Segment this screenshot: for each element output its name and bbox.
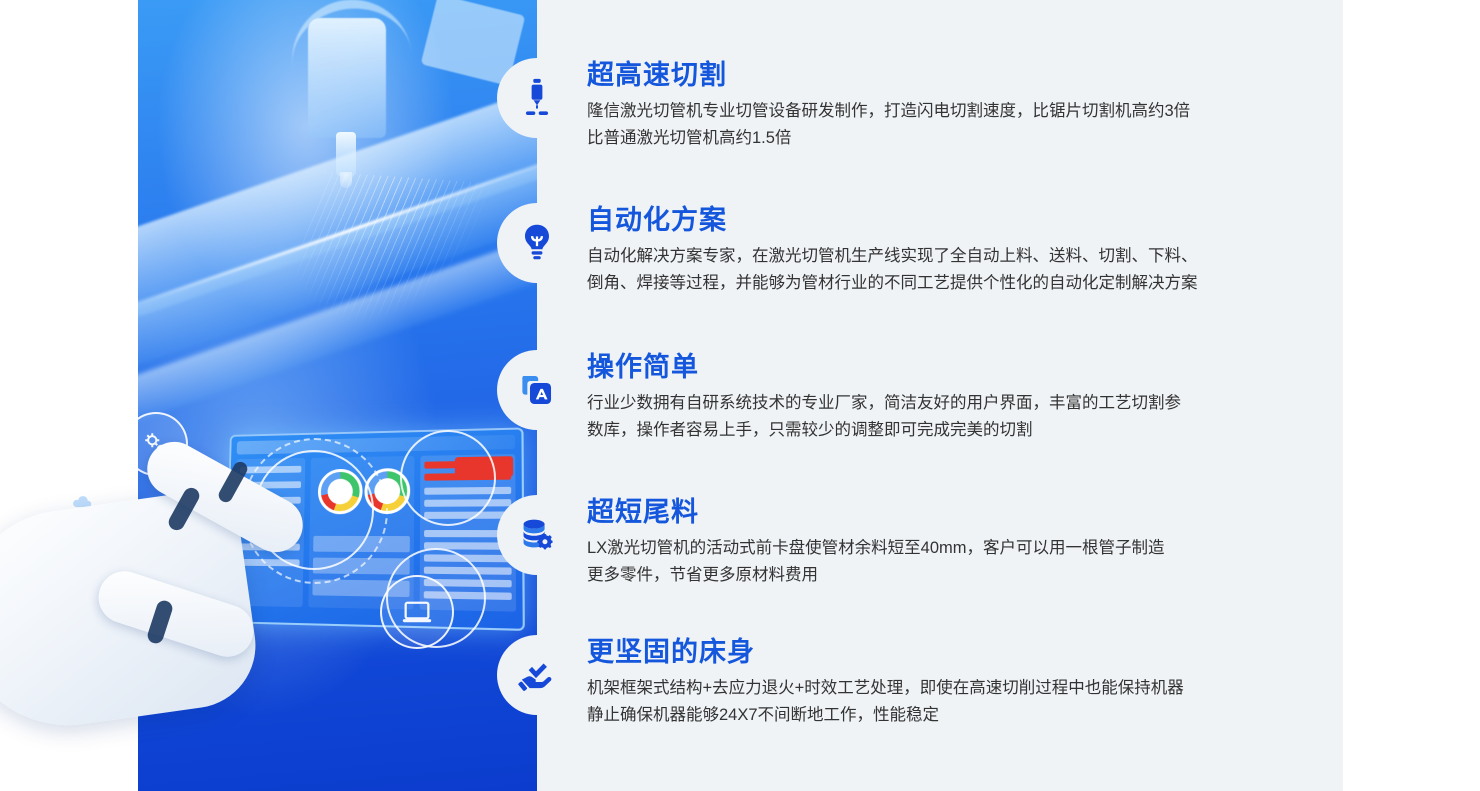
feature-title-1: 超高速切割 [587, 60, 1190, 91]
decorative-ring-4 [386, 548, 486, 648]
hero-cutting-head-shape [308, 18, 386, 138]
feature-item-2[interactable]: 自动化方案 自动化解决方案专家，在激光切管机生产线实现了全自动上料、送料、切割、… [497, 203, 1198, 296]
lightbulb-icon [497, 203, 577, 283]
database-gear-icon [497, 495, 577, 575]
feature-title-3: 操作简单 [587, 352, 1181, 383]
decorative-ring-2 [242, 438, 388, 584]
hand-check-icon [497, 635, 577, 715]
feature-item-4[interactable]: 超短尾料 LX激光切管机的活动式前卡盘使管材余料短至40mm，客户可以用一根管子… [497, 495, 1165, 588]
feature-desc-5: 机架框架式结构+去应力退火+时效工艺处理，即使在高速切削过程中也能保持机器 静止… [587, 675, 1184, 728]
feature-item-3[interactable]: 操作简单 行业少数拥有自研系统技术的专业厂家，简洁友好的用户界面，丰富的工艺切割… [497, 350, 1181, 443]
feature-text-1: 超高速切割 隆信激光切管机专业切管设备研发制作，打造闪电切割速度，比锯片切割机高… [587, 58, 1190, 151]
feature-desc-2: 自动化解决方案专家，在激光切管机生产线实现了全自动上料、送料、切割、下料、 倒角… [587, 243, 1198, 296]
cloud-network-node-icon [52, 474, 114, 544]
letter-a-square-icon [497, 350, 577, 430]
feature-desc-1: 隆信激光切管机专业切管设备研发制作，打造闪电切割速度，比锯片切割机高约3倍 比普… [587, 98, 1190, 151]
feature-text-2: 自动化方案 自动化解决方案专家，在激光切管机生产线实现了全自动上料、送料、切割、… [587, 203, 1198, 296]
feature-list: 超高速切割 隆信激光切管机专业切管设备研发制作，打造闪电切割速度，比锯片切割机高… [497, 0, 1343, 791]
feature-text-5: 更坚固的床身 机架框架式结构+去应力退火+时效工艺处理，即使在高速切削过程中也能… [587, 635, 1184, 728]
feature-desc-4: LX激光切管机的活动式前卡盘使管材余料短至40mm，客户可以用一根管子制造 更多… [587, 535, 1165, 588]
feature-item-5[interactable]: 更坚固的床身 机架框架式结构+去应力退火+时效工艺处理，即使在高速切削过程中也能… [497, 635, 1184, 728]
feature-text-3: 操作简单 行业少数拥有自研系统技术的专业厂家，简洁友好的用户界面，丰富的工艺切割… [587, 350, 1181, 443]
feature-desc-3: 行业少数拥有自研系统技术的专业厂家，简洁友好的用户界面，丰富的工艺切割参 数库，… [587, 390, 1181, 443]
feature-title-2: 自动化方案 [587, 205, 1198, 236]
feature-text-4: 超短尾料 LX激光切管机的活动式前卡盘使管材余料短至40mm，客户可以用一根管子… [587, 495, 1165, 588]
left-white-margin [0, 0, 138, 791]
feature-item-1[interactable]: 超高速切割 隆信激光切管机专业切管设备研发制作，打造闪电切割速度，比锯片切割机高… [497, 58, 1190, 151]
decorative-ring-3 [400, 430, 496, 526]
feature-highlight-page: 超高速切割 隆信激光切管机专业切管设备研发制作，打造闪电切割速度，比锯片切割机高… [0, 0, 1480, 791]
feature-title-5: 更坚固的床身 [587, 637, 1184, 668]
feature-title-4: 超短尾料 [587, 497, 1165, 528]
laser-cutting-head-icon [497, 58, 577, 138]
hero-image-laser-machine [138, 0, 537, 791]
